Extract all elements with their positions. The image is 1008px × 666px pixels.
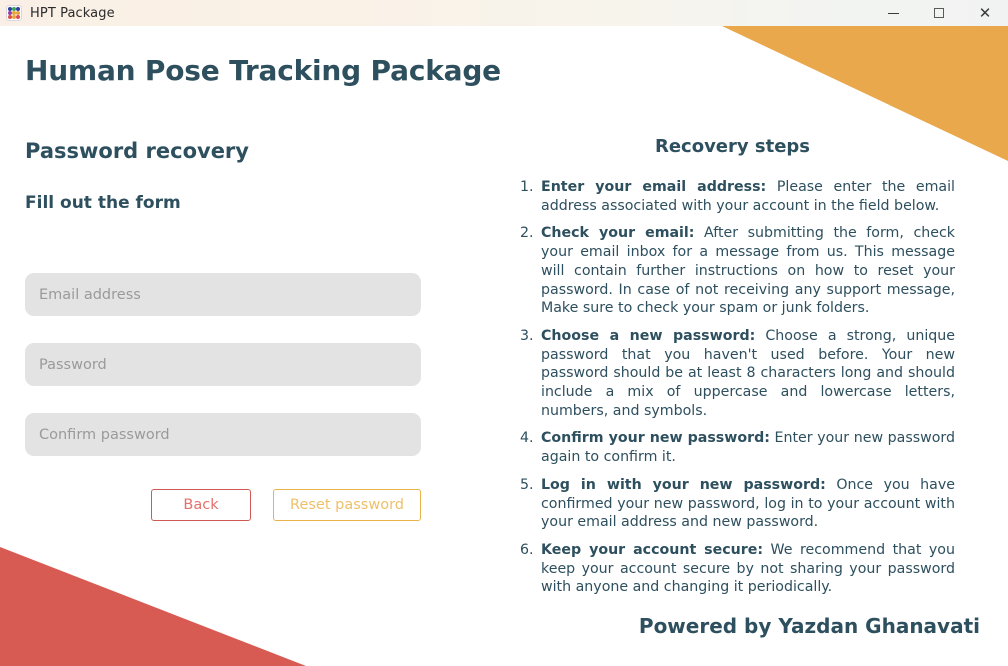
hpt-package-dot-grid-icon bbox=[6, 5, 22, 21]
email-field[interactable] bbox=[25, 273, 421, 316]
password-recovery-form bbox=[25, 273, 421, 456]
window-controls: ✕ bbox=[870, 0, 1008, 26]
minimize-icon bbox=[888, 13, 899, 14]
recovery-steps-title: Recovery steps bbox=[510, 136, 955, 157]
password-field[interactable] bbox=[25, 343, 421, 386]
maximize-icon bbox=[934, 8, 944, 18]
recovery-steps-list: Enter your email address: Please enter t… bbox=[510, 178, 955, 597]
application-window: HPT Package ✕ Human Pose Tracking Packag… bbox=[0, 0, 1008, 666]
recovery-step-item: Check your email: After submitting the f… bbox=[538, 224, 955, 318]
close-icon: ✕ bbox=[979, 6, 992, 21]
minimize-button[interactable] bbox=[870, 0, 916, 26]
recovery-step-lead: Check your email: bbox=[541, 225, 694, 241]
recovery-steps-panel: Recovery steps Enter your email address:… bbox=[510, 136, 955, 597]
recovery-step-lead: Keep your account secure: bbox=[541, 542, 763, 558]
section-subtitle: Fill out the form bbox=[25, 193, 181, 213]
recovery-step-item: Keep your account secure: We recommend t… bbox=[538, 541, 955, 597]
title-bar: HPT Package ✕ bbox=[0, 0, 1008, 26]
reset-password-button[interactable]: Reset password bbox=[273, 489, 421, 521]
footer-credit: Powered by Yazdan Ghanavati bbox=[639, 614, 980, 638]
page-title: Human Pose Tracking Package bbox=[25, 54, 501, 87]
recovery-step-lead: Choose a new password: bbox=[541, 328, 755, 344]
recovery-step-lead: Log in with your new password: bbox=[541, 477, 826, 493]
page-content: Human Pose Tracking Package Password rec… bbox=[0, 26, 1008, 666]
recovery-step-item: Enter your email address: Please enter t… bbox=[538, 178, 955, 215]
section-title: Password recovery bbox=[25, 139, 249, 163]
form-actions: Back Reset password bbox=[25, 489, 421, 521]
close-button[interactable]: ✕ bbox=[962, 0, 1008, 26]
window-title: HPT Package bbox=[30, 6, 115, 21]
recovery-step-item: Confirm your new password: Enter your ne… bbox=[538, 429, 955, 466]
recovery-step-lead: Enter your email address: bbox=[541, 179, 766, 195]
recovery-step-item: Log in with your new password: Once you … bbox=[538, 476, 955, 532]
recovery-step-item: Choose a new password: Choose a strong, … bbox=[538, 327, 955, 421]
back-button[interactable]: Back bbox=[151, 489, 251, 521]
confirm-password-field[interactable] bbox=[25, 413, 421, 456]
maximize-button[interactable] bbox=[916, 0, 962, 26]
recovery-step-lead: Confirm your new password: bbox=[541, 430, 770, 446]
